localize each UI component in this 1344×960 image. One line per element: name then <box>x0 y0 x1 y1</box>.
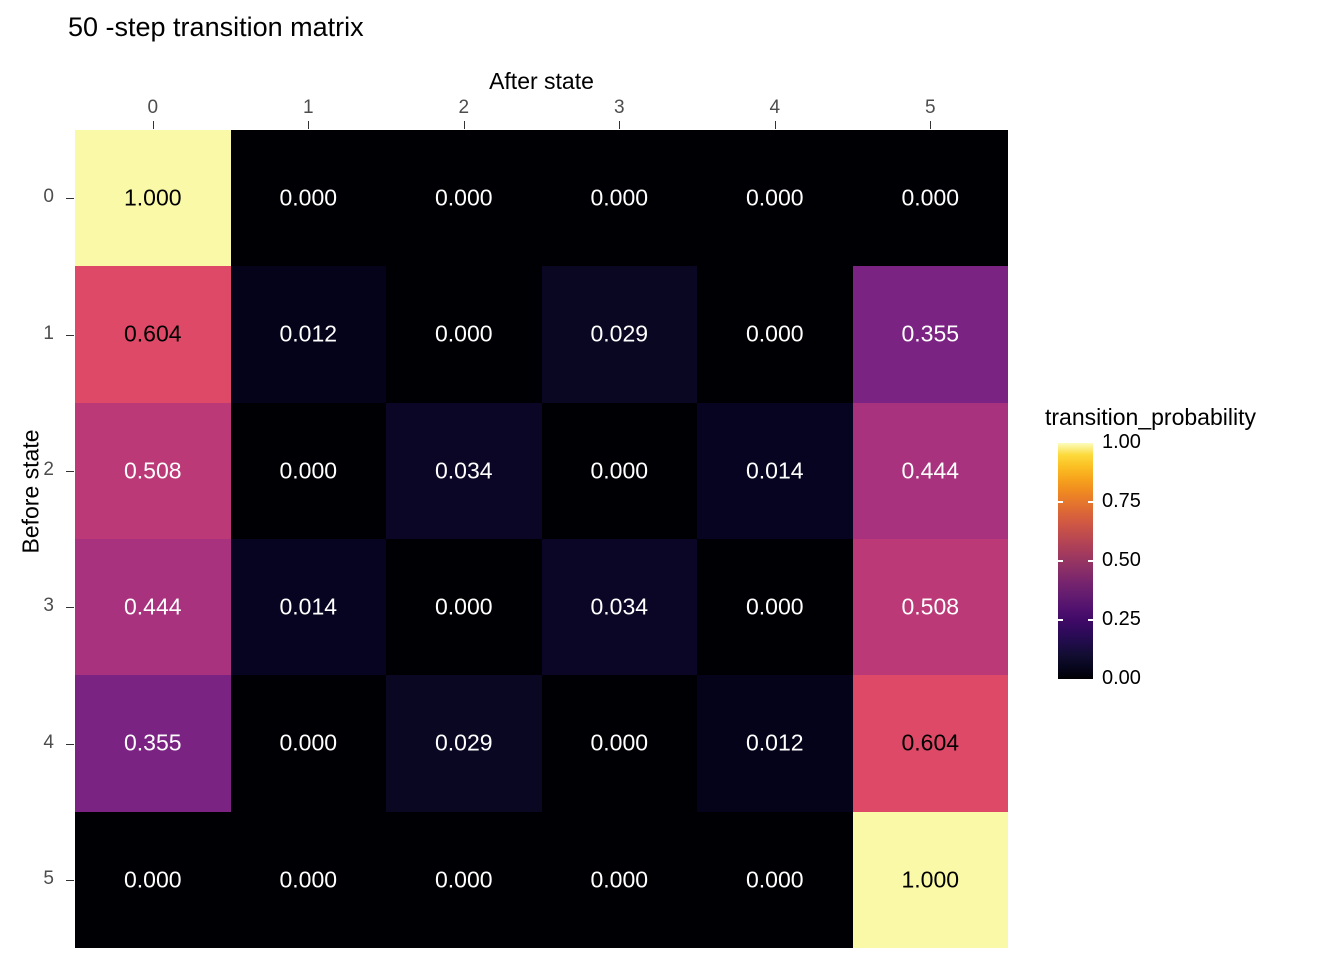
heatmap-cell: 0.000 <box>231 812 387 948</box>
x-tick-label: 5 <box>910 97 950 119</box>
heatmap-cell: 0.000 <box>697 266 853 402</box>
heatmap-cell-label: 0.014 <box>231 594 387 621</box>
heatmap-cell: 0.029 <box>542 266 698 402</box>
heatmap-cell-label: 0.000 <box>697 594 853 621</box>
heatmap-cell-label: 0.034 <box>386 457 542 484</box>
heatmap-cell: 0.014 <box>697 403 853 539</box>
y-tick-label: 0 <box>20 186 54 208</box>
heatmap-cell: 0.355 <box>75 675 231 811</box>
x-axis-title: After state <box>75 68 1008 95</box>
legend-tick-mark <box>1058 560 1063 562</box>
heatmap-cell: 0.000 <box>542 403 698 539</box>
heatmap-cell-label: 0.029 <box>542 321 698 348</box>
heatmap-cell: 0.000 <box>75 812 231 948</box>
heatmap-cell: 0.000 <box>697 812 853 948</box>
heatmap-cell: 0.000 <box>853 130 1009 266</box>
page-title: 50 -step transition matrix <box>68 12 364 43</box>
heatmap-cell-label: 0.000 <box>542 457 698 484</box>
heatmap-cell-label: 0.508 <box>853 594 1009 621</box>
x-tick-mark <box>464 121 465 129</box>
x-tick-label: 1 <box>288 97 328 119</box>
heatmap-cell-label: 0.000 <box>231 730 387 757</box>
heatmap-cell-label: 0.000 <box>697 185 853 212</box>
heatmap-cell-label: 0.000 <box>386 866 542 893</box>
heatmap-cell-label: 0.034 <box>542 594 698 621</box>
heatmap-cell-label: 0.000 <box>386 594 542 621</box>
heatmap-cell: 0.029 <box>386 675 542 811</box>
heatmap-cell-label: 0.000 <box>231 866 387 893</box>
heatmap-cell-label: 0.000 <box>697 321 853 348</box>
heatmap-cell-label: 0.604 <box>853 730 1009 757</box>
x-tick-mark <box>153 121 154 129</box>
heatmap-cell: 0.508 <box>853 539 1009 675</box>
heatmap-cell: 0.012 <box>231 266 387 402</box>
y-axis-title: Before state <box>18 377 45 607</box>
heatmap-cell-label: 0.444 <box>75 594 231 621</box>
heatmap-cell-label: 0.029 <box>386 730 542 757</box>
heatmap-cell-label: 0.012 <box>231 321 387 348</box>
heatmap-cell: 0.000 <box>231 403 387 539</box>
heatmap-cell: 0.604 <box>853 675 1009 811</box>
legend-tick-label: 0.00 <box>1102 667 1141 690</box>
heatmap-cell: 0.508 <box>75 403 231 539</box>
heatmap-cell-label: 0.000 <box>542 185 698 212</box>
heatmap-cell: 0.000 <box>231 675 387 811</box>
y-tick-label: 5 <box>20 868 54 890</box>
heatmap-cell: 0.014 <box>231 539 387 675</box>
heatmap-cell: 0.000 <box>542 130 698 266</box>
legend-title: transition_probability <box>1045 404 1256 431</box>
heatmap-cell-label: 1.000 <box>75 185 231 212</box>
heatmap-cell-label: 0.000 <box>231 185 387 212</box>
legend-tick-mark <box>1088 619 1093 621</box>
y-tick-mark <box>66 880 74 881</box>
y-tick-label: 4 <box>20 732 54 754</box>
heatmap-cell-label: 0.000 <box>231 457 387 484</box>
y-tick-label: 1 <box>20 323 54 345</box>
heatmap-cell-label: 0.000 <box>853 185 1009 212</box>
heatmap-cell-label: 0.000 <box>542 866 698 893</box>
heatmap-cell: 0.444 <box>75 539 231 675</box>
heatmap-cell-label: 0.014 <box>697 457 853 484</box>
heatmap-panel: 1.0000.0000.0000.0000.0000.0000.6040.012… <box>75 130 1008 948</box>
heatmap-cell-label: 0.355 <box>853 321 1009 348</box>
heatmap-cell-label: 1.000 <box>853 866 1009 893</box>
heatmap-cell: 0.355 <box>853 266 1009 402</box>
x-tick-label: 0 <box>133 97 173 119</box>
legend-tick-mark <box>1088 560 1093 562</box>
x-tick-mark <box>308 121 309 129</box>
heatmap-cell-label: 0.012 <box>697 730 853 757</box>
x-tick-mark <box>930 121 931 129</box>
heatmap-cell-label: 0.444 <box>853 457 1009 484</box>
legend-tick-label: 1.00 <box>1102 431 1141 454</box>
y-tick-mark <box>66 471 74 472</box>
y-tick-mark <box>66 198 74 199</box>
y-tick-label: 3 <box>20 595 54 617</box>
heatmap-cell-label: 0.508 <box>75 457 231 484</box>
heatmap-cell: 0.444 <box>853 403 1009 539</box>
legend-tick-mark <box>1058 501 1063 503</box>
heatmap-cell: 1.000 <box>853 812 1009 948</box>
heatmap-cell-label: 0.000 <box>386 185 542 212</box>
x-tick-label: 2 <box>444 97 484 119</box>
heatmap-cell-label: 0.604 <box>75 321 231 348</box>
chart-canvas: 50 -step transition matrix After state B… <box>0 0 1344 960</box>
legend-tick-label: 0.50 <box>1102 549 1141 572</box>
heatmap-cell: 0.000 <box>386 130 542 266</box>
legend-tick-label: 0.25 <box>1102 608 1141 631</box>
x-tick-mark <box>619 121 620 129</box>
heatmap-cell: 0.012 <box>697 675 853 811</box>
heatmap-cell-label: 0.000 <box>542 730 698 757</box>
heatmap-cell-label: 0.000 <box>386 321 542 348</box>
heatmap-cell: 0.034 <box>542 539 698 675</box>
y-tick-mark <box>66 744 74 745</box>
legend-tick-mark <box>1088 501 1093 503</box>
heatmap-cell-label: 0.000 <box>697 866 853 893</box>
heatmap-cell: 0.000 <box>231 130 387 266</box>
x-tick-mark <box>775 121 776 129</box>
heatmap-cell-label: 0.355 <box>75 730 231 757</box>
legend-tick-label: 0.75 <box>1102 490 1141 513</box>
y-tick-mark <box>66 335 74 336</box>
legend-tick-mark <box>1058 619 1063 621</box>
heatmap-cell: 0.000 <box>542 675 698 811</box>
heatmap-cell: 0.034 <box>386 403 542 539</box>
y-tick-label: 2 <box>20 459 54 481</box>
heatmap-cell-label: 0.000 <box>75 866 231 893</box>
heatmap-cell: 0.000 <box>697 130 853 266</box>
x-tick-label: 4 <box>755 97 795 119</box>
heatmap-cell: 0.000 <box>697 539 853 675</box>
heatmap-cell: 0.000 <box>386 266 542 402</box>
heatmap-cell: 0.000 <box>386 812 542 948</box>
heatmap-cell: 0.000 <box>386 539 542 675</box>
y-tick-mark <box>66 607 74 608</box>
heatmap-cell: 0.000 <box>542 812 698 948</box>
x-tick-label: 3 <box>599 97 639 119</box>
heatmap-cell: 1.000 <box>75 130 231 266</box>
heatmap-cell: 0.604 <box>75 266 231 402</box>
